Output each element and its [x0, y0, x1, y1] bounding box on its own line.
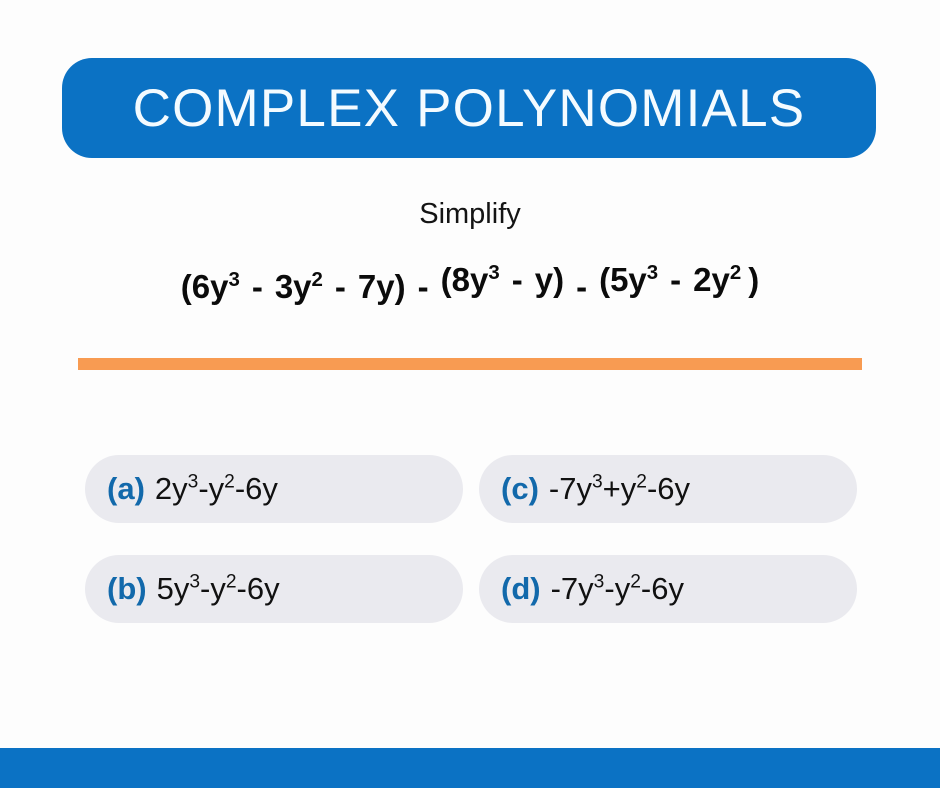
option-c-expression: -7y3+y2-6y	[549, 471, 690, 507]
q-g1-open: (6y	[181, 268, 229, 305]
q-g2-term-2: y	[535, 261, 553, 298]
q-g3-close: )	[748, 261, 759, 298]
question-group-1: (6y3-3y2-7y)	[181, 268, 406, 306]
option-b-expression: 5y3-y2-6y	[157, 571, 280, 607]
option-a-label: (a)	[107, 471, 145, 507]
title-banner: COMPLEX POLYNOMIALS	[62, 58, 876, 158]
option-b-exponent-2: 2	[226, 572, 237, 593]
option-d-operator-1: -	[604, 571, 614, 606]
option-d-base-2: y	[615, 571, 631, 606]
prompt-label: Simplify	[0, 198, 940, 231]
q-g2-exponent: 3	[488, 261, 499, 284]
option-d-base-3: 6y	[651, 571, 684, 606]
q-g2-close: )	[553, 261, 564, 298]
q-g3-open: (5y	[599, 261, 647, 298]
answer-option-b[interactable]: (b) 5y3-y2-6y	[85, 555, 463, 623]
option-a-base-1: 2y	[155, 471, 188, 506]
option-d-operator-2: -	[641, 571, 651, 606]
orange-divider	[78, 358, 862, 370]
answer-option-d[interactable]: (d) -7y3-y2-6y	[479, 555, 857, 623]
option-a-exponent-2: 2	[224, 472, 235, 493]
option-d-base-1: -7y	[551, 571, 594, 606]
question-group-2: (8y3-y)	[441, 261, 564, 299]
q-g2-operator: -	[500, 261, 535, 299]
option-b-operator-2: -	[237, 571, 247, 606]
option-d-label: (d)	[501, 571, 541, 607]
question-expression: (6y3-3y2-7y)-(8y3-y)-(5y3-2y2)	[0, 268, 940, 306]
q-g1-operator-2: -	[323, 268, 358, 306]
option-a-base-2: y	[209, 471, 225, 506]
q-g3-term-2: 2y	[693, 261, 730, 298]
q-g2-open: (8y	[441, 261, 489, 298]
q-g1-exponent: 3	[228, 268, 239, 291]
q-operator-middle-2: -	[564, 268, 599, 306]
option-b-operator-1: -	[200, 571, 210, 606]
q-g1-operator-1: -	[240, 268, 275, 306]
option-a-exponent-1: 3	[188, 472, 199, 493]
q-g1-exponent-2: 2	[312, 268, 323, 291]
question-group-3: (5y3-2y2)	[599, 261, 759, 299]
option-c-exponent-2: 2	[636, 472, 647, 493]
option-a-expression: 2y3-y2-6y	[155, 471, 278, 507]
option-d-expression: -7y3-y2-6y	[551, 571, 684, 607]
option-c-base-2: y	[621, 471, 637, 506]
option-c-base-3: 6y	[657, 471, 690, 506]
q-g3-operator: -	[658, 261, 693, 299]
option-d-exponent-2: 2	[630, 572, 641, 593]
q-g1-term-2: 3y	[275, 268, 312, 305]
answer-option-c[interactable]: (c) -7y3+y2-6y	[479, 455, 857, 523]
bottom-accent-bar	[0, 748, 940, 788]
q-operator-middle-1: -	[406, 268, 441, 306]
option-a-operator-2: -	[235, 471, 245, 506]
q-g1-close: )	[395, 268, 406, 305]
option-b-label: (b)	[107, 571, 147, 607]
answer-options-grid: (a) 2y3-y2-6y (c) -7y3+y2-6y (b) 5y3-y2-…	[85, 455, 857, 623]
option-b-base-3: 6y	[247, 571, 280, 606]
q-g3-exponent-2: 2	[730, 261, 741, 284]
option-b-base-2: y	[210, 571, 226, 606]
option-d-exponent-1: 3	[594, 572, 605, 593]
page-title: COMPLEX POLYNOMIALS	[133, 82, 806, 135]
option-b-exponent-1: 3	[189, 572, 200, 593]
option-c-label: (c)	[501, 471, 539, 507]
option-c-operator-1: +	[603, 471, 621, 506]
q-g1-term-3: 7y	[358, 268, 395, 305]
q-g3-exponent: 3	[647, 261, 658, 284]
option-c-base-1: -7y	[549, 471, 592, 506]
option-b-base-1: 5y	[157, 571, 190, 606]
answer-option-a[interactable]: (a) 2y3-y2-6y	[85, 455, 463, 523]
option-a-operator-1: -	[198, 471, 208, 506]
option-c-exponent-1: 3	[592, 472, 603, 493]
option-a-base-3: 6y	[245, 471, 278, 506]
option-c-operator-2: -	[647, 471, 657, 506]
